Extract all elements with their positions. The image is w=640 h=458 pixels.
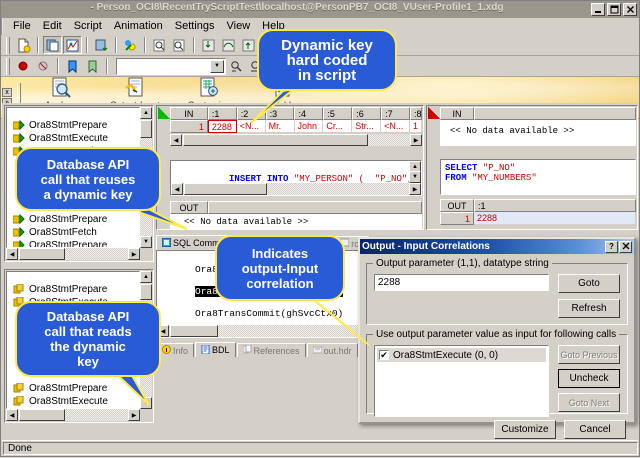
callout-read-line1: Database API bbox=[47, 309, 130, 324]
callout-corr-line2: output-Input bbox=[242, 261, 319, 276]
callout-corr-line1: Indicates bbox=[252, 246, 308, 261]
callout-dynamic-key: Dynamic key hard coded in script bbox=[257, 29, 397, 91]
application-window: - Person_OCI8\RecentTryScriptTest\localh… bbox=[0, 0, 640, 457]
callout-read-line2: call that reads bbox=[44, 324, 131, 339]
callout-indicates-correlation: Indicates output-Input correlation bbox=[215, 235, 345, 301]
callout-read-line4: key bbox=[77, 354, 99, 369]
callout-db-api-reuse: Database API call that reuses a dynamic … bbox=[15, 147, 161, 211]
callout-reuse-line2: call that reuses bbox=[41, 172, 136, 187]
callout-db-api-read: Database API call that reads the dynamic… bbox=[15, 301, 161, 377]
callout-reuse-line1: Database API bbox=[47, 157, 130, 172]
callout-dynamic-key-line3: in script bbox=[298, 67, 356, 84]
callout-corr-line3: correlation bbox=[246, 276, 313, 291]
callout-read-line3: the dynamic bbox=[50, 339, 126, 354]
callout-reuse-line3: a dynamic key bbox=[44, 187, 133, 202]
